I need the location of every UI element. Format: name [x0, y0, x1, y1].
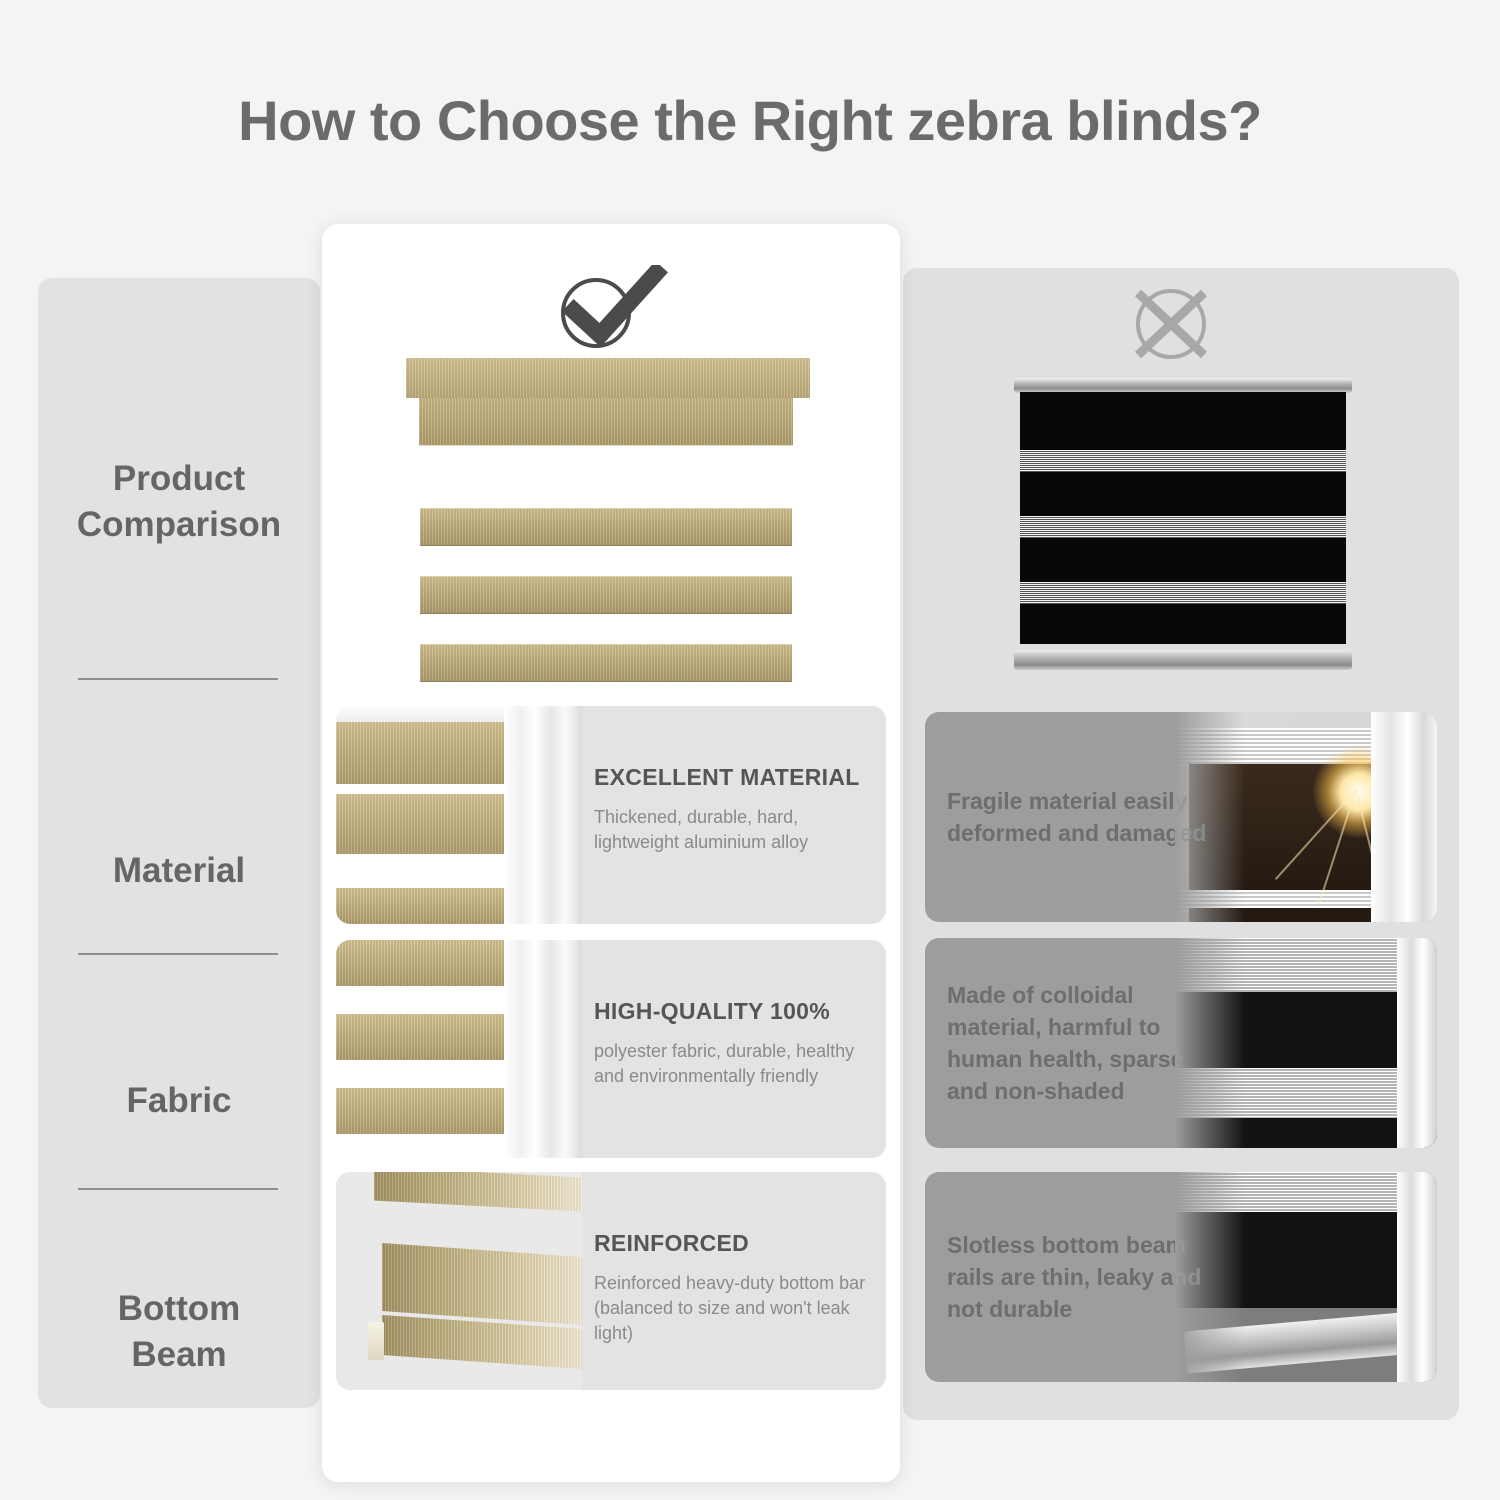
good-feature-title: HIGH-QUALITY 100% [594, 998, 882, 1025]
bad-feature-card-fabric: Made of colloidal material, harmful to h… [925, 938, 1437, 1148]
good-feature-title: REINFORCED [594, 1230, 882, 1257]
blind-headrail [1014, 378, 1352, 393]
blind-body [1020, 392, 1346, 644]
blind-top-slat [419, 398, 793, 446]
infographic-root: How to Choose the Right zebra blinds? Pr… [0, 0, 1500, 1500]
blind-slat [420, 644, 792, 682]
row-divider-2 [78, 953, 278, 955]
bad-feature-card-bottom-beam: Slotless bottom beam rails are thin, lea… [925, 1172, 1437, 1382]
good-feature-photo-material [336, 706, 582, 924]
row-label-line1: Product [38, 456, 320, 502]
good-feature-text-bottom-beam: REINFORCED Reinforced heavy-duty bottom … [594, 1172, 882, 1390]
row-label-panel: Product Comparison Material Fabric Botto… [38, 278, 320, 1408]
check-circle-icon [548, 265, 668, 355]
blind-slat [420, 576, 792, 614]
blind-sheer-stripe [1020, 450, 1346, 472]
bad-feature-photo-bottom-beam [1175, 1172, 1437, 1382]
good-feature-photo-bottom-beam [336, 1172, 582, 1390]
row-label-fabric: Fabric [38, 1078, 320, 1124]
row-divider-1 [78, 678, 278, 680]
good-feature-card-fabric: HIGH-QUALITY 100% polyester fabric, dura… [336, 940, 886, 1158]
blind-headrail [406, 358, 810, 398]
good-feature-photo-fabric [336, 940, 582, 1158]
cross-circle-icon [1125, 282, 1217, 366]
row-label-product-comparison: Product Comparison [38, 456, 320, 548]
row-label-bottom-beam: Bottom Beam [38, 1286, 320, 1378]
good-feature-title: EXCELLENT MATERIAL [594, 764, 882, 791]
row-label-line1: Bottom [38, 1286, 320, 1332]
blind-bottom-rail [1014, 650, 1352, 670]
good-feature-text-fabric: HIGH-QUALITY 100% polyester fabric, dura… [594, 940, 882, 1158]
row-divider-3 [78, 1188, 278, 1190]
row-label-line1: Material [38, 848, 320, 894]
good-hero-blind [406, 358, 810, 698]
blind-sheer-stripe [1020, 516, 1346, 538]
page-title: How to Choose the Right zebra blinds? [0, 88, 1500, 153]
good-feature-desc: polyester fabric, durable, healthy and e… [594, 1039, 882, 1089]
good-feature-card-material: EXCELLENT MATERIAL Thickened, durable, h… [336, 706, 886, 924]
bad-feature-photo-light-leak [1175, 712, 1437, 922]
blind-sheer-stripe [1020, 582, 1346, 604]
good-feature-card-bottom-beam: REINFORCED Reinforced heavy-duty bottom … [336, 1172, 886, 1390]
row-label-line2: Beam [38, 1332, 320, 1378]
good-feature-desc: Thickened, durable, hard, lightweight al… [594, 805, 882, 855]
row-label-line1: Fabric [38, 1078, 320, 1124]
blind-slat [420, 508, 792, 546]
row-label-material: Material [38, 848, 320, 894]
good-feature-text-material: EXCELLENT MATERIAL Thickened, durable, h… [594, 706, 882, 924]
bad-feature-photo-fabric [1175, 938, 1437, 1148]
bad-feature-card-material: Fragile material easily deformed and dam… [925, 712, 1437, 922]
good-feature-desc: Reinforced heavy-duty bottom bar (balanc… [594, 1271, 882, 1346]
bad-hero-blind [1014, 378, 1352, 670]
row-label-line2: Comparison [38, 502, 320, 548]
